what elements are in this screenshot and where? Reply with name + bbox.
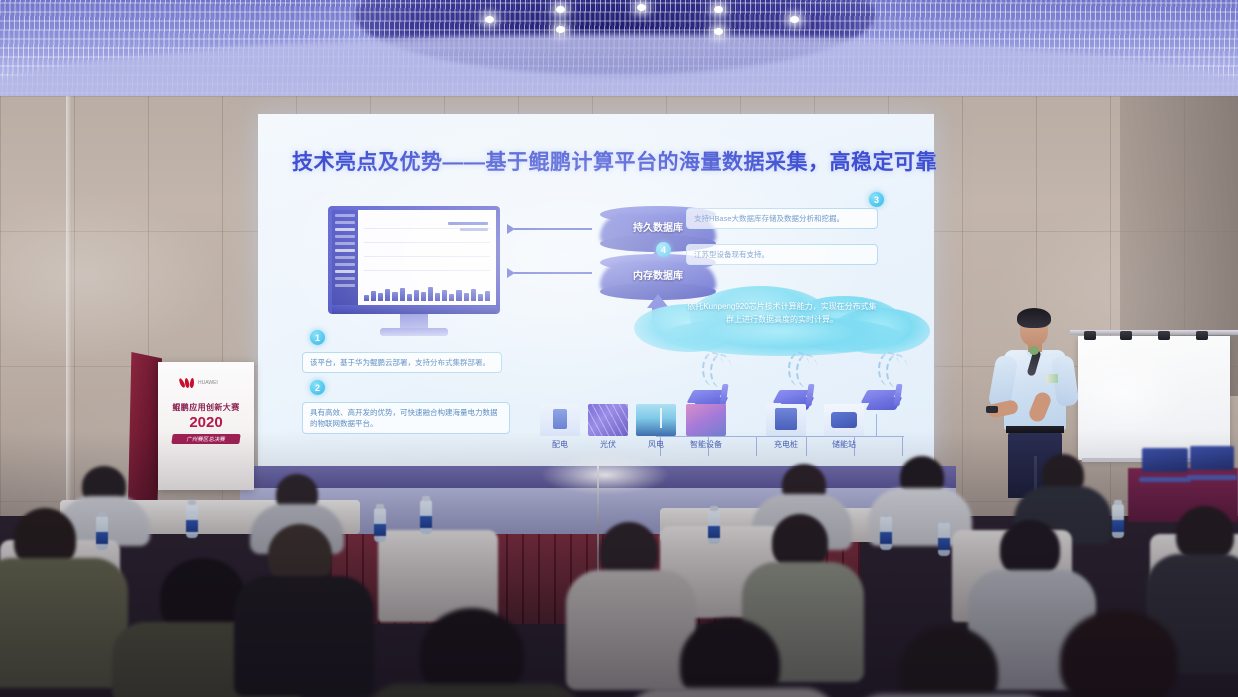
callout-right-4: 江苏型设备现有支持。 <box>686 244 878 265</box>
cloud-text-line1: 依托Kunpeng920芯片技术计算能力，实现在分布式集 <box>648 300 916 313</box>
flipchart-clip <box>1196 331 1208 340</box>
projection-screen: 技术亮点及优势——基于鲲鹏计算平台的海量数据采集，高稳定可靠 <box>258 114 934 466</box>
cloud-text: 依托Kunpeng920芯片技术计算能力，实现在分布式集 群上进行数据高度的实时… <box>648 300 916 326</box>
audience-foreground <box>0 430 1238 697</box>
huawei-logo-text: HUAWEI <box>198 380 218 386</box>
presentation-clicker <box>986 406 998 413</box>
microphone-head <box>1029 346 1039 355</box>
gateway-device <box>864 382 904 414</box>
cloud-text-line2: 群上进行数据高度的实时计算。 <box>648 313 916 326</box>
arrow-head-memory <box>507 268 515 278</box>
ceiling-spotlight <box>637 4 646 11</box>
arrow-head-persistent <box>507 224 515 234</box>
dashboard-chart-area <box>358 210 496 305</box>
callout-left-1: 该平台，基于华为鲲鹏云部署，支持分布式集群部署。 <box>302 352 502 373</box>
cloud-compute-shape: 依托Kunpeng920芯片技术计算能力，实现在分布式集 群上进行数据高度的实时… <box>634 286 930 358</box>
ceiling-spotlight <box>714 28 723 35</box>
callout-badge-3: 3 <box>869 192 884 207</box>
dashboard-bars <box>364 285 490 301</box>
flipchart-clip <box>1158 331 1170 340</box>
dashboard-monitor-illustration <box>328 206 500 314</box>
slide-title: 技术亮点及优势——基于鲲鹏计算平台的海量数据采集，高稳定可靠 <box>292 146 912 176</box>
callout-badge-4: 4 <box>656 242 671 257</box>
ceiling-spotlight <box>485 16 494 23</box>
monitor-screen <box>332 210 496 305</box>
callout-badge-1: 1 <box>310 330 325 345</box>
ceiling-spotlight <box>556 6 565 13</box>
ceiling-spotlight <box>714 6 723 13</box>
monitor-base-strip <box>332 306 496 314</box>
database-persistent-label: 持久数据库 <box>600 219 716 234</box>
presentation-photo: 技术亮点及优势——基于鲲鹏计算平台的海量数据采集，高稳定可靠 <box>0 0 1238 697</box>
database-memory-label: 内存数据库 <box>600 267 716 282</box>
presenter-hair <box>1017 308 1051 328</box>
arrow-line-memory <box>514 272 592 274</box>
banner-heading: 鲲鹏应用创新大赛 <box>164 402 248 413</box>
ceiling-spotlight <box>790 16 799 23</box>
ceiling-spotlight <box>556 26 565 33</box>
flipchart-clip <box>1120 331 1132 340</box>
monitor-stand <box>380 328 448 336</box>
presenter-badge <box>1046 374 1058 383</box>
banner-year: 2020 <box>164 414 248 431</box>
foreground-vignette <box>0 430 1238 697</box>
huawei-logo: HUAWEI <box>180 378 234 388</box>
dashboard-sidebar <box>332 210 358 305</box>
callout-badge-2: 2 <box>310 380 325 395</box>
arrow-line-persistent <box>514 228 592 230</box>
